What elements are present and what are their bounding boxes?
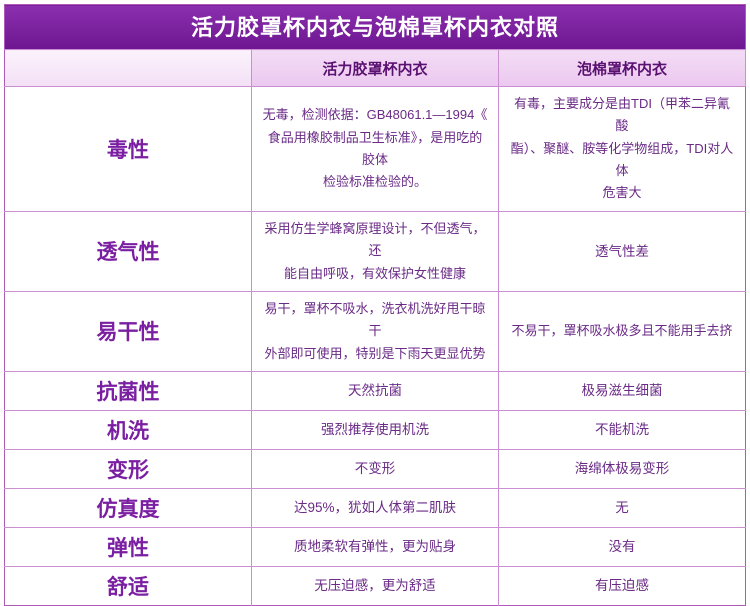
- table-title-row: 活力胶罩杯内衣与泡棉罩杯内衣对照: [5, 5, 746, 50]
- cell-text: 达95%，犹如人体第二肌肤: [262, 496, 488, 519]
- table-row: 仿真度 达95%，犹如人体第二肌肤 无: [5, 488, 746, 527]
- row-breathability-value-b: 透气性差: [499, 211, 746, 291]
- row-deformation-value-a: 不变形: [252, 449, 499, 488]
- row-breathability-value-a: 采用仿生学蜂窝原理设计，不但透气，还 能自由呼吸，有效保护女性健康: [252, 211, 499, 291]
- row-label-machine-wash: 机洗: [5, 410, 252, 449]
- comparison-sheet: 活力胶罩杯内衣与泡棉罩杯内衣对照 活力胶罩杯内衣 泡棉罩杯内衣 毒性 无毒，检测…: [0, 0, 750, 535]
- column-header-product-b: 泡棉罩杯内衣: [499, 50, 746, 87]
- row-label-deformation: 变形: [5, 449, 252, 488]
- cell-text: 透气性差: [509, 240, 735, 263]
- cell-text: 有压迫感: [509, 574, 735, 597]
- table-row: 透气性 采用仿生学蜂窝原理设计，不但透气，还 能自由呼吸，有效保护女性健康 透气…: [5, 211, 746, 291]
- table-header-row: 活力胶罩杯内衣 泡棉罩杯内衣: [5, 50, 746, 87]
- cell-text: 极易滋生细菌: [509, 379, 735, 402]
- row-simulation-value-b: 无: [499, 488, 746, 527]
- cell-text: 没有: [509, 535, 735, 558]
- table-row: 抗菌性 天然抗菌 极易滋生细菌: [5, 371, 746, 410]
- cell-text: 强烈推荐使用机洗: [262, 418, 488, 441]
- row-label-simulation: 仿真度: [5, 488, 252, 527]
- comparison-table: 活力胶罩杯内衣与泡棉罩杯内衣对照 活力胶罩杯内衣 泡棉罩杯内衣 毒性 无毒，检测…: [4, 4, 746, 606]
- row-simulation-value-a: 达95%，犹如人体第二肌肤: [252, 488, 499, 527]
- row-label-breathability: 透气性: [5, 211, 252, 291]
- table-row: 变形 不变形 海绵体极易变形: [5, 449, 746, 488]
- cell-text: 天然抗菌: [262, 379, 488, 402]
- row-machine-wash-value-b: 不能机洗: [499, 410, 746, 449]
- cell-text: 无: [509, 496, 735, 519]
- cell-text: 有毒，主要成分是由TDI（甲苯二异氰酸 酯）、聚醚、胺等化学物组成，TDI对人体…: [509, 93, 735, 205]
- row-antibacterial-value-a: 天然抗菌: [252, 371, 499, 410]
- table-row: 舒适 无压迫感，更为舒适 有压迫感: [5, 566, 746, 605]
- row-machine-wash-value-a: 强烈推荐使用机洗: [252, 410, 499, 449]
- row-toxicity-value-b: 有毒，主要成分是由TDI（甲苯二异氰酸 酯）、聚醚、胺等化学物组成，TDI对人体…: [499, 87, 746, 212]
- cell-text: 采用仿生学蜂窝原理设计，不但透气，还 能自由呼吸，有效保护女性健康: [262, 218, 488, 285]
- row-elasticity-value-b: 没有: [499, 527, 746, 566]
- row-elasticity-value-a: 质地柔软有弹性，更为贴身: [252, 527, 499, 566]
- row-dryness-value-b: 不易干，罩杯吸水极多且不能用手去挤: [499, 291, 746, 371]
- row-comfort-value-b: 有压迫感: [499, 566, 746, 605]
- cell-text: 无毒，检测依据：GB48061.1—1994《 食品用橡胶制品卫生标准》，是用吃…: [262, 104, 488, 193]
- row-dryness-value-a: 易干，罩杯不吸水，洗衣机洗好甩干晾干 外部即可使用，特别是下雨天更显优势: [252, 291, 499, 371]
- cell-text: 不变形: [262, 457, 488, 480]
- row-label-toxicity: 毒性: [5, 87, 252, 212]
- cell-text: 不能机洗: [509, 418, 735, 441]
- cell-text: 易干，罩杯不吸水，洗衣机洗好甩干晾干 外部即可使用，特别是下雨天更显优势: [262, 298, 488, 365]
- row-label-elasticity: 弹性: [5, 527, 252, 566]
- cell-text: 海绵体极易变形: [509, 457, 735, 480]
- row-label-antibacterial: 抗菌性: [5, 371, 252, 410]
- row-deformation-value-b: 海绵体极易变形: [499, 449, 746, 488]
- cell-text: 不易干，罩杯吸水极多且不能用手去挤: [509, 320, 735, 342]
- row-comfort-value-a: 无压迫感，更为舒适: [252, 566, 499, 605]
- table-row: 毒性 无毒，检测依据：GB48061.1—1994《 食品用橡胶制品卫生标准》，…: [5, 87, 746, 212]
- column-header-product-a: 活力胶罩杯内衣: [252, 50, 499, 87]
- row-toxicity-value-a: 无毒，检测依据：GB48061.1—1994《 食品用橡胶制品卫生标准》，是用吃…: [252, 87, 499, 212]
- table-body: 活力胶罩杯内衣与泡棉罩杯内衣对照 活力胶罩杯内衣 泡棉罩杯内衣 毒性 无毒，检测…: [5, 5, 746, 606]
- table-row: 机洗 强烈推荐使用机洗 不能机洗: [5, 410, 746, 449]
- table-row: 弹性 质地柔软有弹性，更为贴身 没有: [5, 527, 746, 566]
- row-antibacterial-value-b: 极易滋生细菌: [499, 371, 746, 410]
- table-row: 易干性 易干，罩杯不吸水，洗衣机洗好甩干晾干 外部即可使用，特别是下雨天更显优势…: [5, 291, 746, 371]
- column-header-blank: [5, 50, 252, 87]
- page-title: 活力胶罩杯内衣与泡棉罩杯内衣对照: [5, 5, 746, 50]
- row-label-comfort: 舒适: [5, 566, 252, 605]
- cell-text: 质地柔软有弹性，更为贴身: [262, 535, 488, 558]
- cell-text: 无压迫感，更为舒适: [262, 574, 488, 597]
- row-label-dryness: 易干性: [5, 291, 252, 371]
